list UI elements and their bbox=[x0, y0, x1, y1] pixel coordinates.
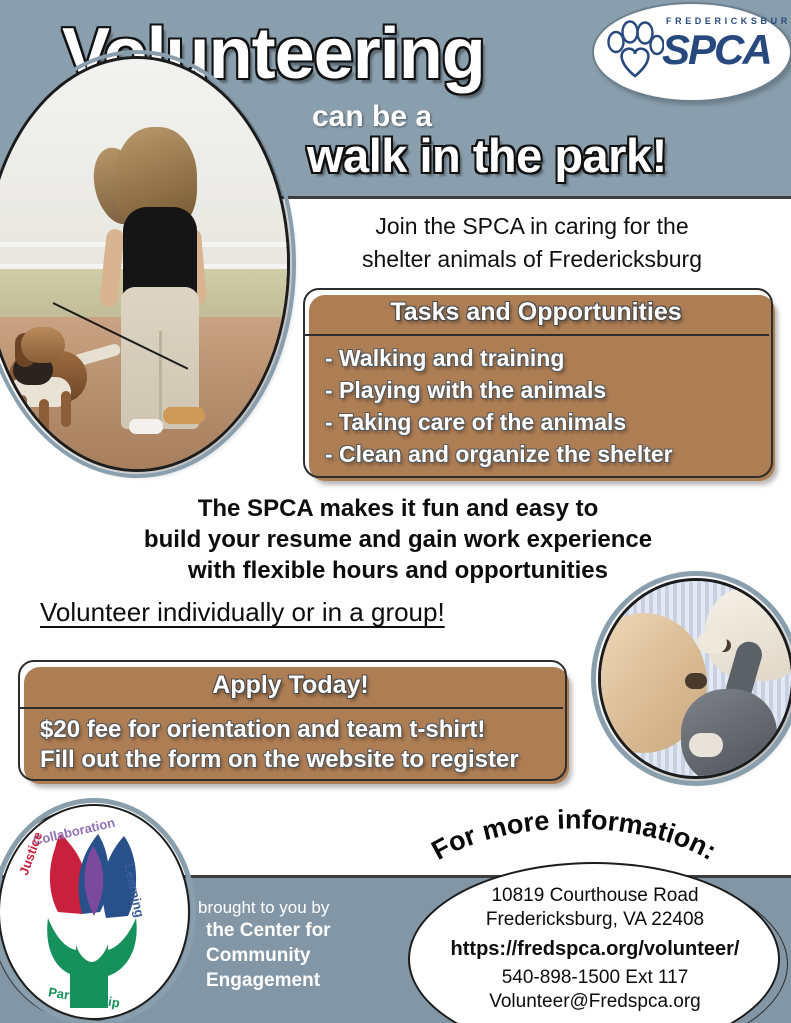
svg-text:For more information:: For more information: bbox=[427, 806, 722, 866]
cce-name-line2: Community bbox=[198, 943, 383, 968]
email-address[interactable]: Volunteer@Fredspca.org bbox=[430, 990, 760, 1014]
spca-logo: FREDERICKSBURG SPCA bbox=[592, 2, 788, 98]
spca-logo-wordmark: SPCA bbox=[662, 26, 771, 74]
phone-number[interactable]: 540-898-1500 Ext 117 bbox=[430, 966, 760, 990]
paw-print-icon bbox=[606, 18, 664, 80]
benefits-text: The SPCA makes it fun and easy to build … bbox=[100, 494, 696, 587]
tasks-box-outline bbox=[303, 288, 773, 478]
cce-attribution: brought to you by the Center for Communi… bbox=[198, 898, 383, 993]
address-line-2: Fredericksburg, VA 22408 bbox=[430, 908, 760, 932]
brought-to-you-by-label: brought to you by bbox=[198, 898, 383, 918]
volunteer-group-text: Volunteer individually or in a group! bbox=[40, 597, 445, 628]
woman-walking-beagle-photo bbox=[0, 56, 290, 472]
headline-secondary: walk in the park! bbox=[307, 128, 667, 183]
spca-logo-subtitle: FREDERICKSBURG bbox=[666, 16, 791, 26]
cce-name-line1: the Center for bbox=[198, 918, 383, 943]
contact-details: 10819 Courthouse Road Fredericksburg, VA… bbox=[430, 884, 760, 1014]
for-more-information-label: For more information: bbox=[427, 806, 722, 866]
volunteer-flyer: Volunteering can be a walk in the park! … bbox=[0, 0, 791, 1023]
apply-box-outline bbox=[18, 660, 567, 781]
cce-name-line3: Engagement bbox=[198, 968, 383, 993]
address-line-1: 10819 Courthouse Road bbox=[430, 884, 760, 908]
apply-today-box: Apply Today! $20 fee for orientation and… bbox=[18, 660, 563, 777]
cce-logo: Collaboration Learning Partnership Justi… bbox=[0, 800, 192, 1020]
sleeping-puppies-kitten-photo bbox=[598, 578, 791, 779]
website-url[interactable]: https://fredspca.org/volunteer/ bbox=[430, 938, 760, 961]
intro-text: Join the SPCA in caring for the shelter … bbox=[312, 210, 752, 277]
tasks-and-opportunities-box: Tasks and Opportunities - Walking and tr… bbox=[303, 288, 769, 474]
